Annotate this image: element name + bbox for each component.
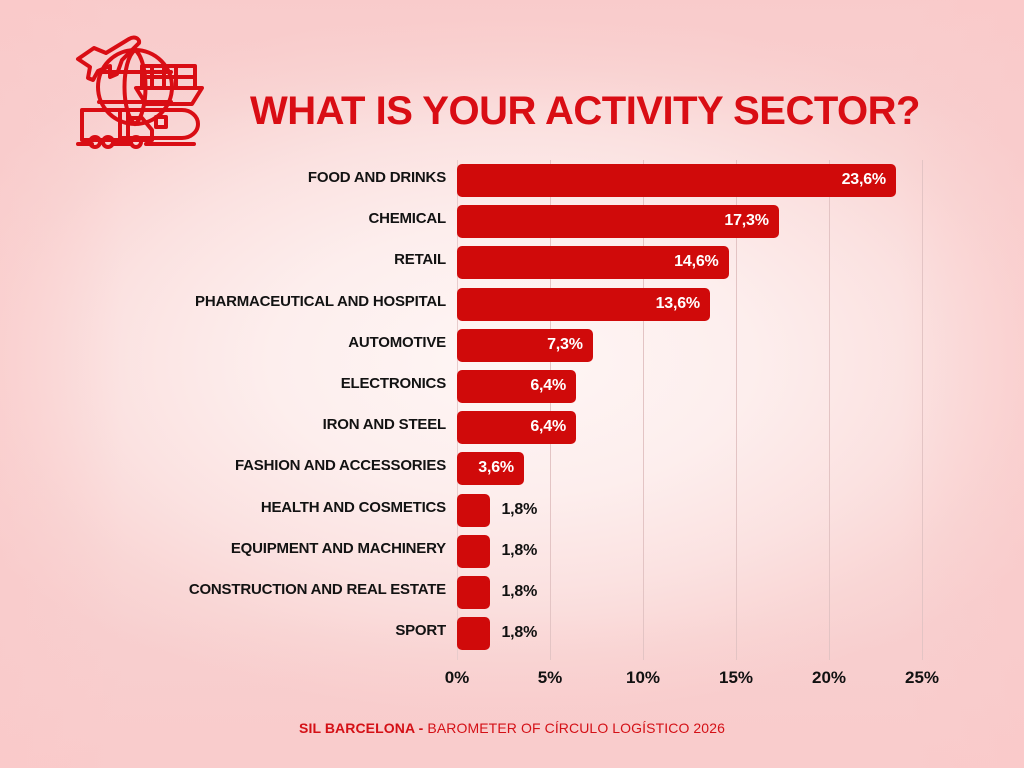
bar-value-label: 23,6% [842,171,886,189]
bar[interactable]: 17,3% [457,205,779,238]
category-label: PHARMACEUTICAL AND HOSPITAL [195,293,446,310]
category-label: CONSTRUCTION AND REAL ESTATE [189,581,446,598]
x-tick-label: 5% [538,668,563,688]
category-label: IRON AND STEEL [323,416,446,433]
bar-row: CONSTRUCTION AND REAL ESTATE1,8% [0,572,1024,613]
x-tick-label: 10% [626,668,660,688]
bar-row: AUTOMOTIVE7,3% [0,325,1024,366]
category-label: EQUIPMENT AND MACHINERY [231,540,446,557]
bar[interactable]: 23,6% [457,164,896,197]
bar-value-label: 1,8% [501,624,537,642]
sil-logistics-logo [60,22,210,150]
bar-value-label: 1,8% [501,542,537,560]
bar-value-label: 1,8% [501,583,537,601]
x-tick-label: 20% [812,668,846,688]
bar-row: RETAIL14,6% [0,242,1024,283]
bar[interactable] [457,535,490,568]
bar-row: IRON AND STEEL6,4% [0,407,1024,448]
bar-row: SPORT1,8% [0,613,1024,654]
bar[interactable] [457,617,490,650]
bar[interactable]: 6,4% [457,411,576,444]
category-label: AUTOMOTIVE [348,334,446,351]
category-label: ELECTRONICS [341,375,446,392]
bar[interactable]: 3,6% [457,452,524,485]
bar[interactable]: 13,6% [457,288,710,321]
bar[interactable] [457,494,490,527]
activity-sector-bar-chart: FOOD AND DRINKS23,6%CHEMICAL17,3%RETAIL1… [0,160,1024,680]
bar-row: FASHION AND ACCESSORIES3,6% [0,448,1024,489]
bar-row: PHARMACEUTICAL AND HOSPITAL13,6% [0,284,1024,325]
bar[interactable] [457,576,490,609]
bar-row: EQUIPMENT AND MACHINERY1,8% [0,531,1024,572]
footer-brand: SIL BARCELONA - [299,720,423,736]
category-label: FOOD AND DRINKS [308,169,446,186]
bar-value-label: 13,6% [656,295,700,313]
footer-caption: SIL BARCELONA - BAROMETER OF CÍRCULO LOG… [0,720,1024,736]
bar-value-label: 17,3% [724,212,768,230]
bar-value-label: 7,3% [547,336,583,354]
footer-text: BAROMETER OF CÍRCULO LOGÍSTICO 2026 [427,720,725,736]
bar[interactable]: 6,4% [457,370,576,403]
bar-value-label: 1,8% [501,501,537,519]
x-tick-label: 0% [445,668,470,688]
category-label: HEALTH AND COSMETICS [261,499,446,516]
bar-value-label: 14,6% [674,253,718,271]
x-tick-label: 15% [719,668,753,688]
category-label: RETAIL [394,251,446,268]
bar-row: CHEMICAL17,3% [0,201,1024,242]
bar-row: ELECTRONICS6,4% [0,366,1024,407]
category-label: CHEMICAL [368,210,446,227]
slide-canvas: WHAT IS YOUR ACTIVITY SECTOR? FOOD AND D… [0,0,1024,768]
bar-row: HEALTH AND COSMETICS1,8% [0,490,1024,531]
bar[interactable]: 7,3% [457,329,593,362]
x-axis: 0%5%10%15%20%25% [0,660,1024,700]
bar-row: FOOD AND DRINKS23,6% [0,160,1024,201]
truck-icon [78,110,194,147]
bar-value-label: 6,4% [530,418,566,436]
x-tick-label: 25% [905,668,939,688]
bar-value-label: 3,6% [478,459,514,477]
bar-value-label: 6,4% [530,377,566,395]
bar[interactable]: 14,6% [457,246,729,279]
page-title: WHAT IS YOUR ACTIVITY SECTOR? [250,89,950,134]
category-label: FASHION AND ACCESSORIES [235,457,446,474]
category-label: SPORT [395,622,446,639]
bar-rows: FOOD AND DRINKS23,6%CHEMICAL17,3%RETAIL1… [0,160,1024,654]
